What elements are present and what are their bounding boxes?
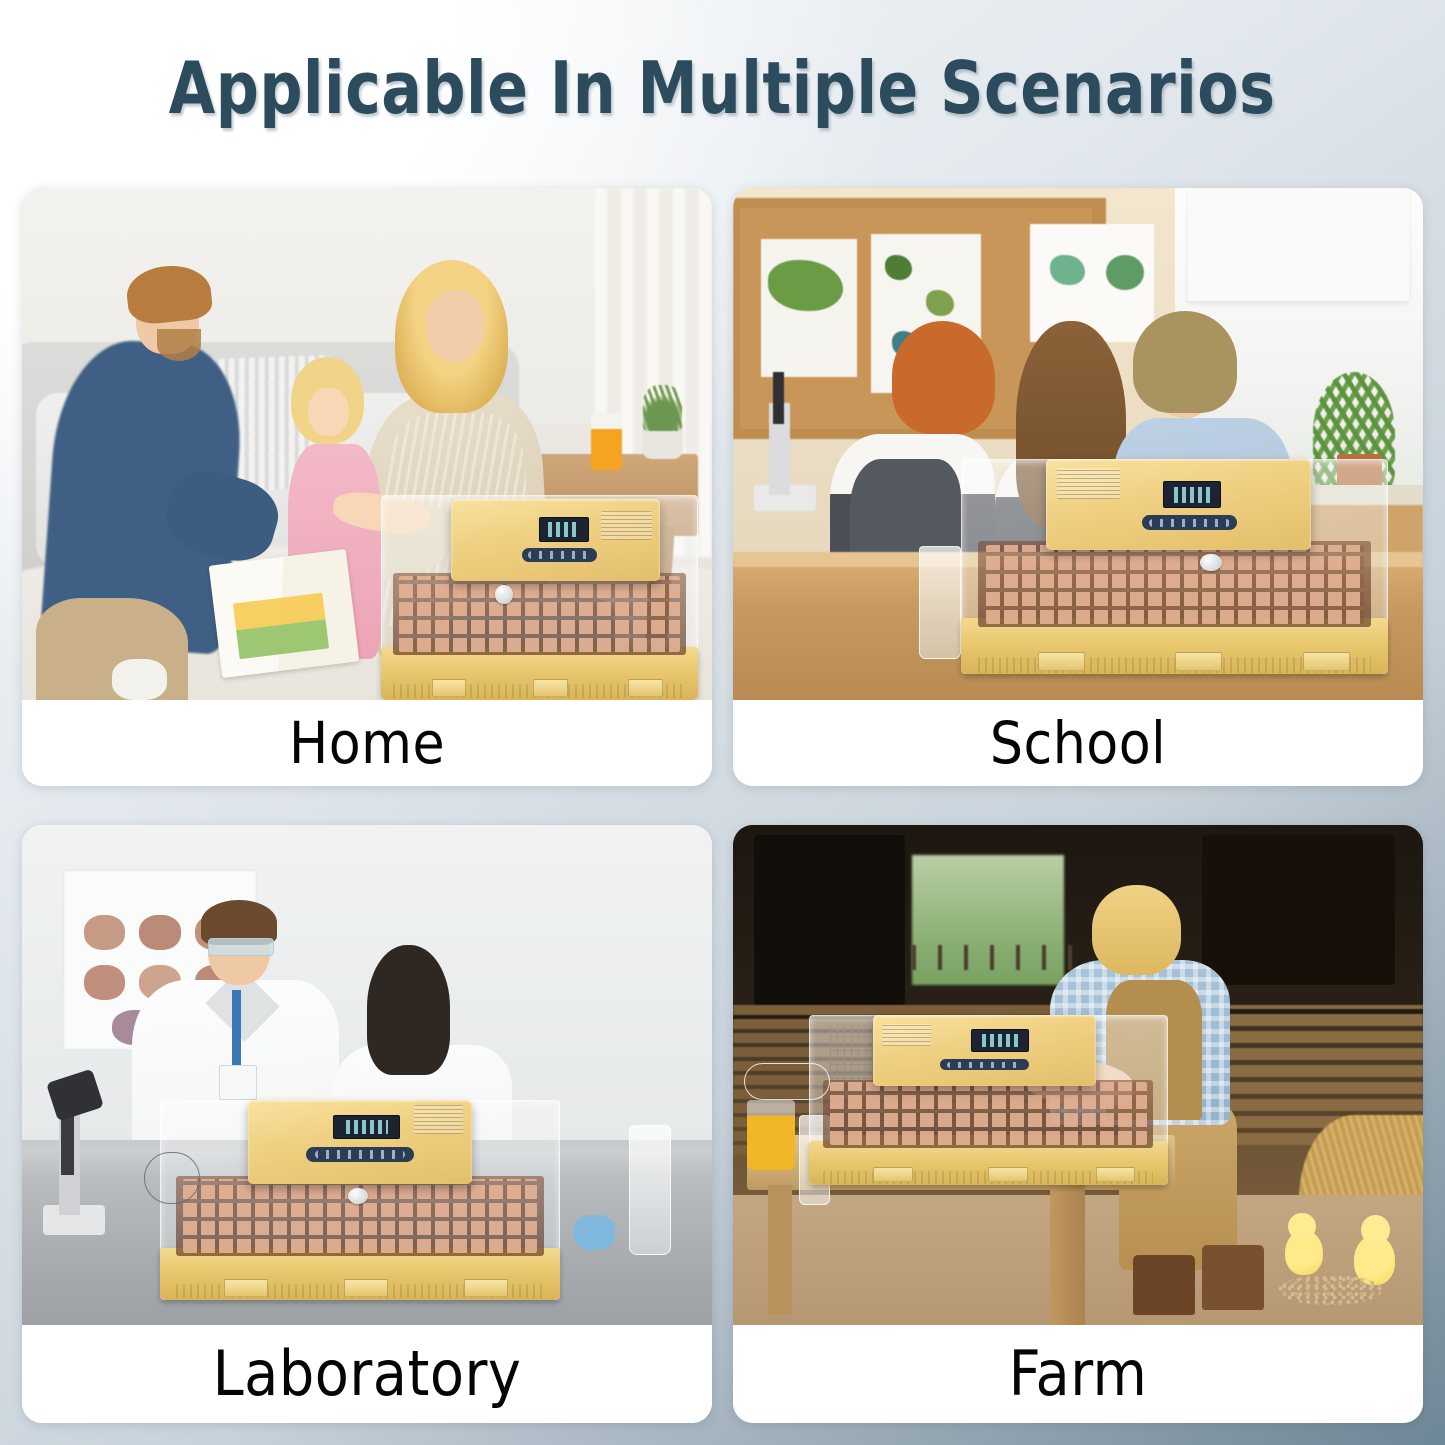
juice-pitcher bbox=[747, 1100, 795, 1170]
window-blind bbox=[1188, 188, 1409, 301]
farmer-hair bbox=[1092, 885, 1182, 975]
incubator-control-buttons bbox=[940, 1059, 1029, 1070]
water-bottle bbox=[919, 546, 960, 659]
incubator-latch bbox=[873, 1167, 912, 1182]
egg-incubator-laboratory bbox=[160, 1100, 560, 1300]
outdoor-fence bbox=[912, 945, 1078, 970]
incubator-egg-tray bbox=[823, 1080, 1153, 1148]
caption-home: Home bbox=[22, 700, 712, 786]
incubator-latch bbox=[1175, 652, 1222, 671]
picture-book-illustration bbox=[233, 592, 329, 659]
potted-plant bbox=[643, 385, 682, 431]
chick-head bbox=[1288, 1213, 1316, 1241]
incubator-latch bbox=[988, 1167, 1027, 1182]
incubator-latch bbox=[464, 1279, 508, 1297]
barn-doorway bbox=[1202, 835, 1395, 985]
scene-laboratory bbox=[22, 825, 712, 1325]
scenario-label-farm: Farm bbox=[1009, 1343, 1148, 1405]
scenario-card-farm[interactable]: Farm bbox=[733, 825, 1423, 1423]
student-hair bbox=[1133, 311, 1237, 413]
father-sock bbox=[112, 659, 167, 700]
button-icons bbox=[947, 1062, 1022, 1068]
incubator-latch bbox=[432, 679, 467, 697]
scene-school bbox=[733, 188, 1423, 700]
incubator-eggs bbox=[830, 1082, 1147, 1145]
button-icons bbox=[1149, 519, 1229, 527]
display-digits bbox=[346, 1120, 388, 1134]
safety-goggles bbox=[208, 938, 274, 956]
water-bottle bbox=[629, 1125, 670, 1255]
microscope-eyepiece bbox=[773, 372, 784, 423]
scenario-grid: Home bbox=[22, 188, 1423, 1423]
plant-illustration bbox=[1106, 255, 1144, 291]
scenario-label-home: Home bbox=[289, 714, 445, 772]
caption-farm: Farm bbox=[733, 1325, 1423, 1423]
incubator-control-buttons bbox=[522, 548, 597, 562]
incubator-water-tube bbox=[744, 1063, 830, 1100]
incubator-egg-tray bbox=[978, 541, 1372, 627]
insect-illustration bbox=[926, 290, 954, 316]
table-leg bbox=[1050, 1185, 1085, 1325]
incubator-latch bbox=[1038, 652, 1085, 671]
incubator-control-lid bbox=[873, 1015, 1095, 1086]
incubator-latch bbox=[224, 1279, 268, 1297]
display-digits bbox=[548, 522, 579, 536]
incubator-control-buttons bbox=[306, 1147, 414, 1162]
scenario-label-school: School bbox=[990, 714, 1166, 772]
incubator-control-lid bbox=[248, 1100, 472, 1184]
incubator-label bbox=[601, 511, 651, 540]
mother-face bbox=[426, 290, 484, 362]
incubator-latch bbox=[1303, 652, 1350, 671]
egg-incubator-school bbox=[961, 459, 1389, 674]
egg-incubator-home bbox=[381, 495, 698, 700]
incubator-digital-display bbox=[971, 1029, 1029, 1052]
blue-glove bbox=[574, 1215, 615, 1250]
infographic-page: Applicable In Multiple Scenarios bbox=[0, 0, 1445, 1445]
barn-doorway bbox=[754, 835, 906, 1005]
incubator-egg-tray bbox=[393, 573, 685, 655]
poster-figure bbox=[84, 965, 125, 1000]
display-digits bbox=[1174, 487, 1210, 503]
incubator-digital-display bbox=[1163, 481, 1221, 508]
incubator-label bbox=[1057, 468, 1121, 499]
caption-school: School bbox=[733, 700, 1423, 786]
incubator-eggs bbox=[986, 545, 1364, 624]
button-icons bbox=[528, 551, 591, 559]
egg-incubator-farm bbox=[809, 1015, 1168, 1185]
poster-figure bbox=[84, 915, 125, 950]
caption-laboratory: Laboratory bbox=[22, 1325, 712, 1423]
scenario-label-laboratory: Laboratory bbox=[213, 1343, 522, 1405]
feed-grain bbox=[1278, 1275, 1382, 1305]
farmer-boot bbox=[1133, 1255, 1195, 1315]
scenario-card-laboratory[interactable]: Laboratory bbox=[22, 825, 712, 1423]
incubator-eggs bbox=[399, 576, 679, 651]
chick-head bbox=[1361, 1215, 1390, 1245]
poster-figure bbox=[139, 915, 180, 950]
incubator-latch bbox=[628, 679, 663, 697]
incubator-digital-display bbox=[333, 1115, 400, 1139]
scenario-card-school[interactable]: School bbox=[733, 188, 1423, 786]
incubator-digital-display bbox=[539, 517, 589, 542]
farmer-boot bbox=[1202, 1245, 1264, 1310]
toddler-face bbox=[308, 388, 349, 437]
display-digits bbox=[982, 1034, 1018, 1047]
lanyard bbox=[232, 990, 241, 1070]
incubator-label bbox=[882, 1024, 931, 1047]
incubator-label bbox=[414, 1105, 463, 1134]
incubator-latch bbox=[533, 679, 568, 697]
page-title: Applicable In Multiple Scenarios bbox=[169, 46, 1276, 130]
button-icons bbox=[315, 1150, 405, 1158]
orange-juice-glass bbox=[591, 413, 623, 469]
incubator-control-lid bbox=[451, 499, 660, 581]
title-bar: Applicable In Multiple Scenarios bbox=[0, 0, 1445, 176]
incubator-control-buttons bbox=[1142, 515, 1237, 529]
researcher-hair bbox=[367, 945, 450, 1075]
scene-home bbox=[22, 188, 712, 700]
incubator-knob bbox=[1200, 554, 1221, 571]
scene-farm bbox=[733, 825, 1423, 1325]
incubator-latch bbox=[1096, 1167, 1135, 1182]
table-leg bbox=[768, 1185, 792, 1315]
student-hair bbox=[892, 321, 996, 434]
incubator-control-lid bbox=[1046, 459, 1311, 549]
scenario-card-home[interactable]: Home bbox=[22, 188, 712, 786]
incubator-knob bbox=[348, 1188, 368, 1204]
incubator-knob bbox=[495, 585, 512, 603]
incubator-latch bbox=[344, 1279, 388, 1297]
father-beard bbox=[157, 329, 201, 361]
incubator-water-tube bbox=[144, 1152, 200, 1204]
id-badge bbox=[219, 1065, 257, 1100]
